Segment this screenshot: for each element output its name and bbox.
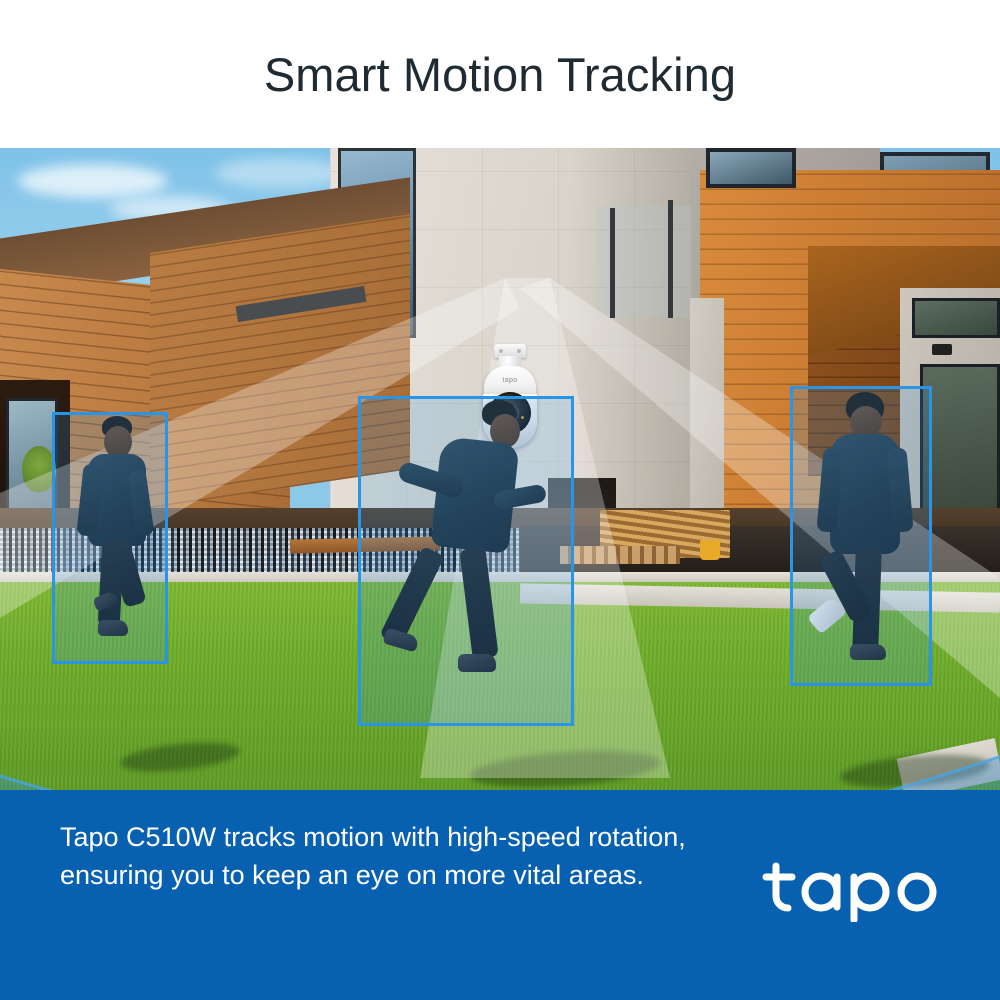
product-feature-poster: Smart Motion Tracking <box>0 0 1000 1000</box>
scene-photo: tapo <box>0 148 1000 790</box>
shrub <box>22 446 56 492</box>
window <box>706 148 796 188</box>
detection-box-person-center <box>358 396 574 726</box>
description-banner: Tapo C510W tracks motion with high-speed… <box>0 790 1000 1000</box>
screw-icon <box>499 349 503 353</box>
camera-brand-label: tapo <box>484 377 536 384</box>
detection-box-person-left <box>52 412 168 664</box>
window <box>912 298 1000 338</box>
doorway <box>920 364 1000 524</box>
tapo-logo <box>762 852 952 922</box>
bucket <box>700 540 720 560</box>
balcony-rail <box>610 208 615 318</box>
cloud <box>18 164 168 198</box>
page-title: Smart Motion Tracking <box>264 51 736 98</box>
pallet <box>560 546 680 564</box>
wall-lamp-icon <box>932 344 952 355</box>
header: Smart Motion Tracking <box>0 0 1000 148</box>
product-description: Tapo C510W tracks motion with high-speed… <box>60 818 700 895</box>
building-stone-pier <box>690 298 724 518</box>
cloud <box>215 158 345 188</box>
detection-box-person-right <box>790 386 932 686</box>
screw-icon <box>517 349 521 353</box>
balcony-rail <box>668 200 673 318</box>
